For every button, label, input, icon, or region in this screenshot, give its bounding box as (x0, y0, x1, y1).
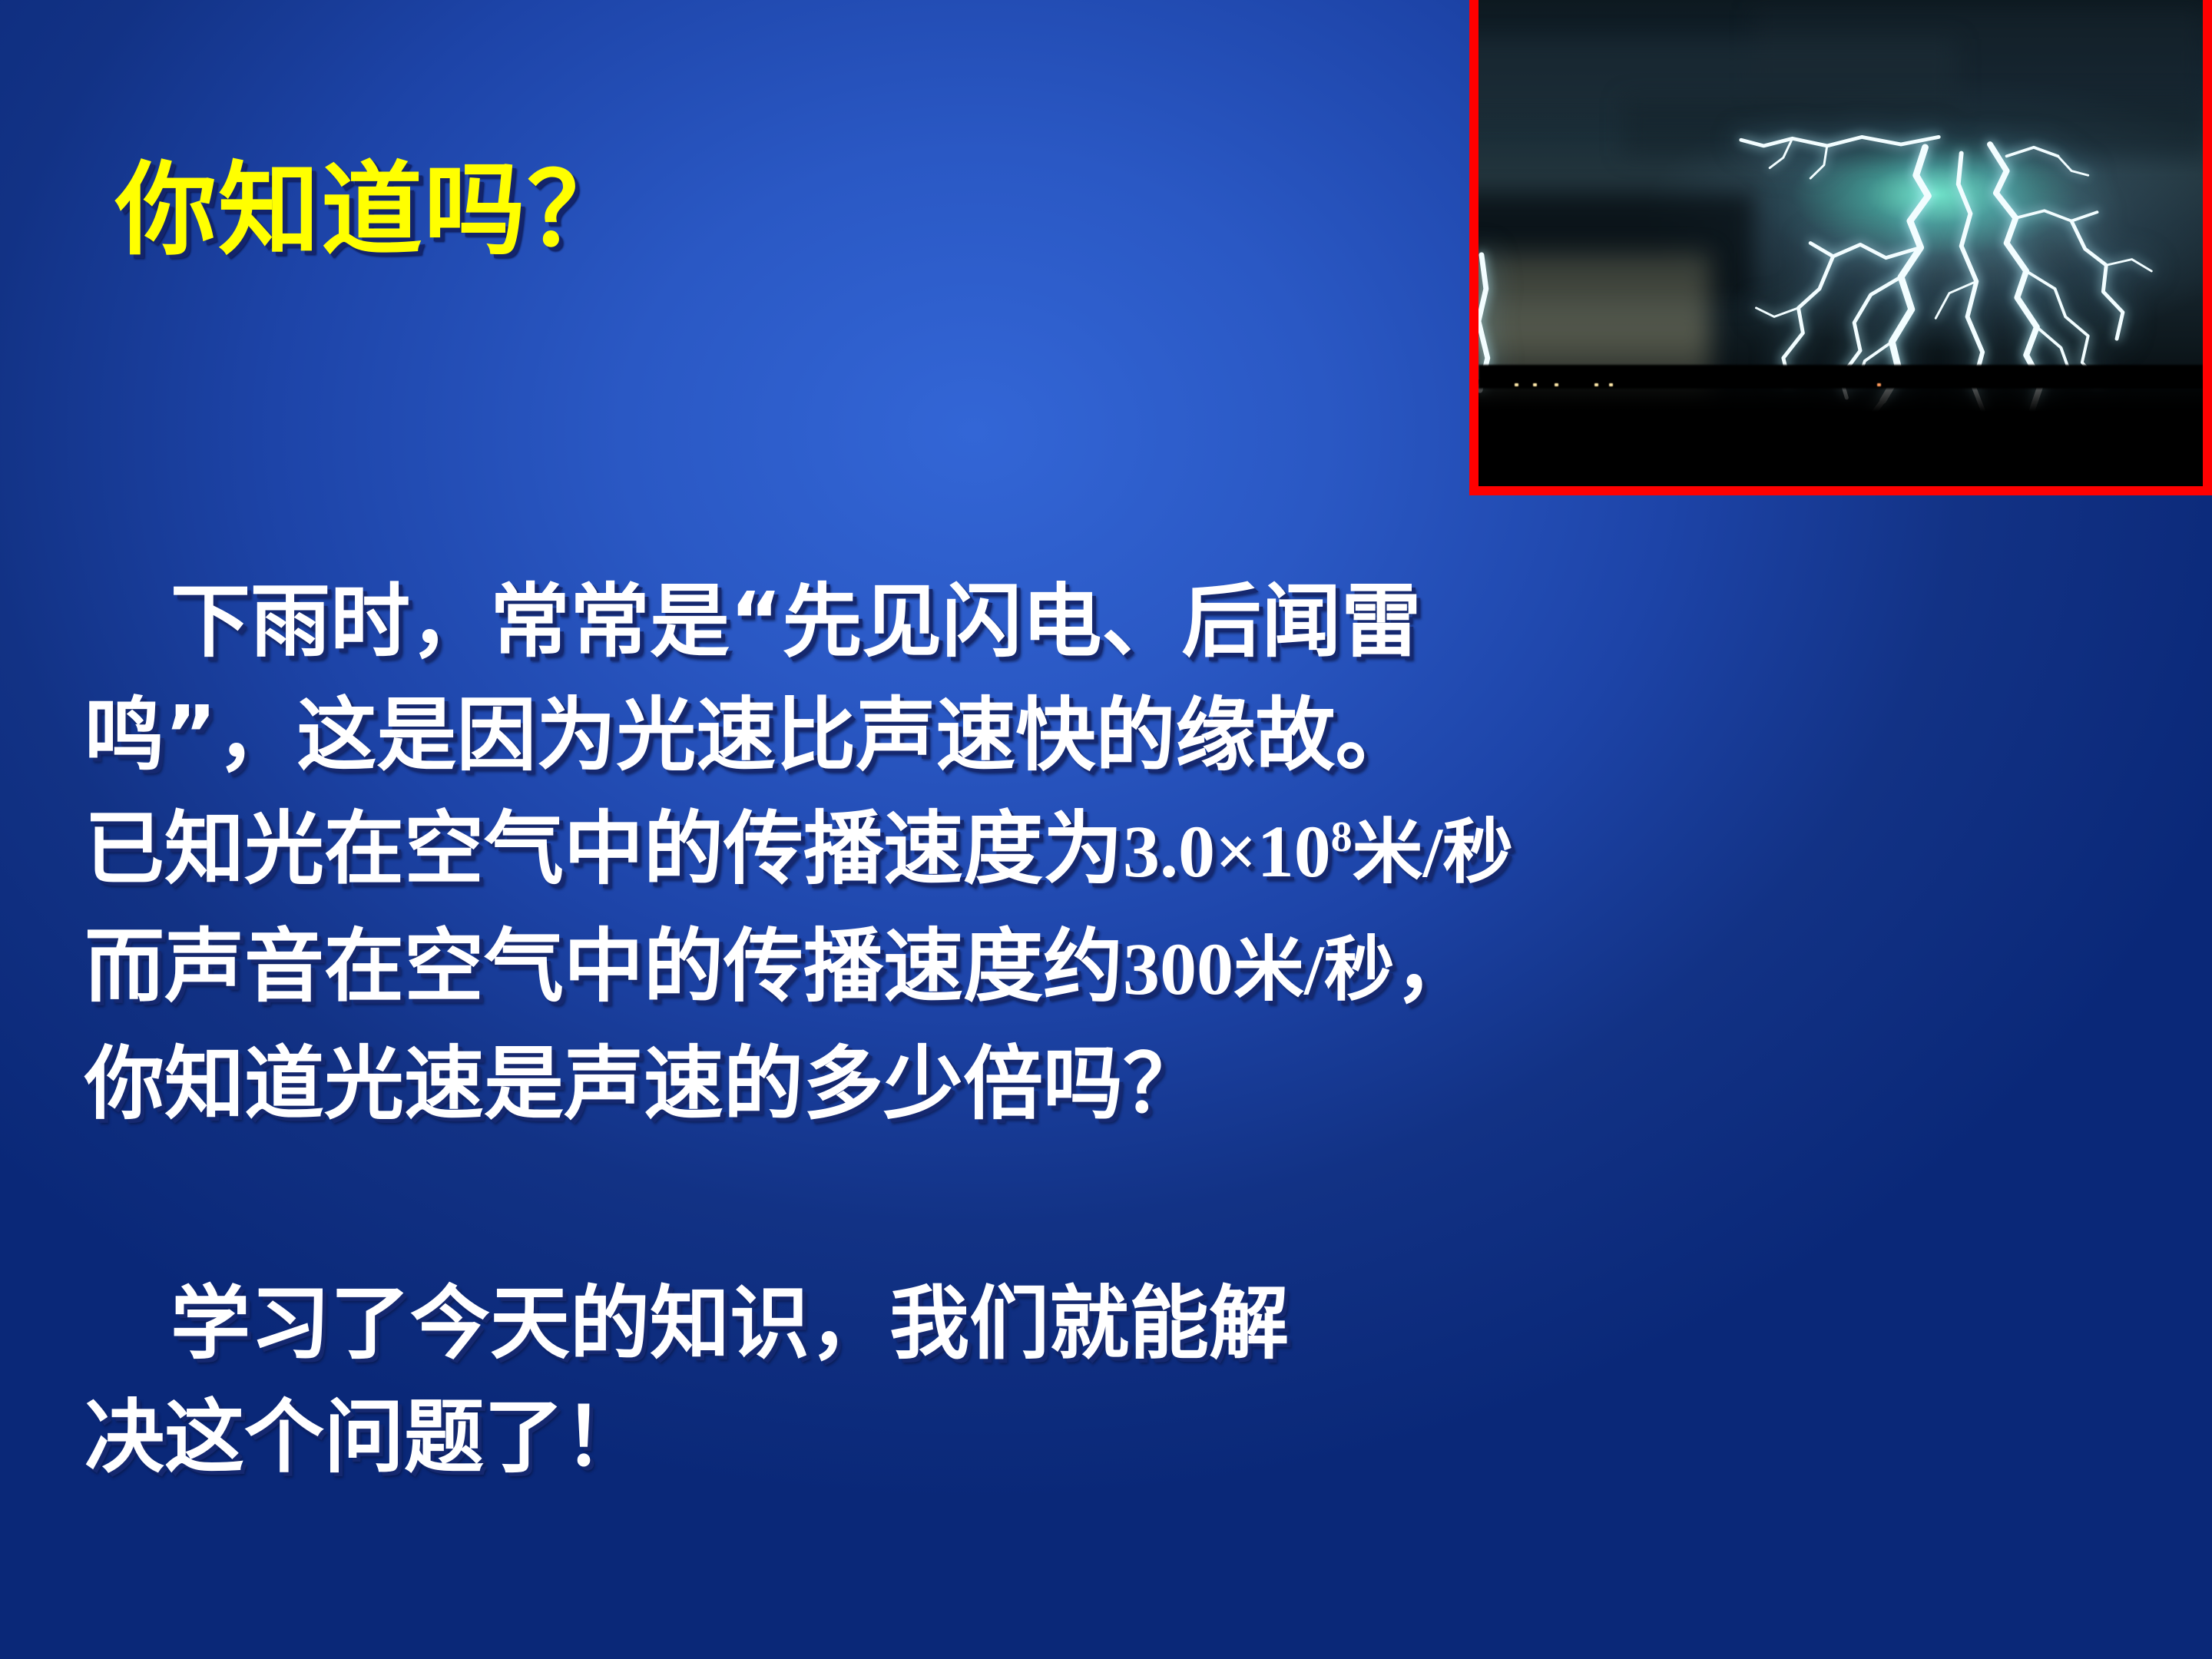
light-speed-value: 3.0×108 (1123, 810, 1353, 892)
body-line-light-speed: 已知光在空气中的传播速度为3.0×108米/秒 (84, 792, 1989, 909)
paragraph-question: 下雨时，常常是“先见闪电、后闻雷 鸣”，这是因为光速比声速快的缘故。 已知光在空… (84, 565, 1989, 1141)
body-line: 下雨时，常常是“先见闪电、后闻雷 (84, 565, 1989, 678)
presentation-slide: 你知道吗？ (0, 0, 2212, 1659)
city-light (1515, 383, 1518, 386)
city-light (1555, 383, 1558, 386)
light-speed-unit: 米/秒 (1353, 813, 1514, 892)
city-light (1609, 383, 1613, 386)
slide-body: 下雨时，常常是“先见闪电、后闻雷 鸣”，这是因为光速比声速快的缘故。 已知光在空… (84, 565, 1989, 1494)
photo-content (1479, 0, 2203, 486)
body-line-question: 你知道光速是声速的多少倍吗？ (84, 1027, 1989, 1141)
lightning-storm-photo (1469, 0, 2212, 495)
body-line: 决这个问题了！ (84, 1380, 1989, 1494)
sound-speed-prefix: 而声音在空气中的传播速度约 (84, 919, 1123, 1013)
light-speed-exponent: 8 (1331, 813, 1353, 861)
light-speed-mantissa: 3.0×10 (1123, 810, 1331, 892)
paragraph-conclusion: 学习了今天的知识，我们就能解 决这个问题了！ (84, 1267, 1989, 1494)
city-light (1533, 383, 1537, 386)
light-speed-prefix: 已知光在空气中的传播速度为 (84, 802, 1123, 896)
paragraph-spacer (84, 1141, 1989, 1267)
city-light (1877, 383, 1881, 386)
slide-title-text: 你知道吗？ (115, 160, 630, 261)
slide-title: 你知道吗？ (115, 160, 630, 261)
sound-speed-unit: 米/秒 (1233, 931, 1395, 1009)
body-line: 鸣”，这是因为光速比声速快的缘故。 (84, 678, 1989, 792)
body-line: 学习了今天的知识，我们就能解 (84, 1267, 1989, 1380)
sound-speed-suffix: ， (1395, 919, 1475, 1013)
city-light (1594, 383, 1598, 386)
ground-silhouette (1479, 379, 2203, 486)
sound-speed-value: 300 (1123, 928, 1233, 1010)
body-line-sound-speed: 而声音在空气中的传播速度约300米/秒， (84, 909, 1989, 1027)
